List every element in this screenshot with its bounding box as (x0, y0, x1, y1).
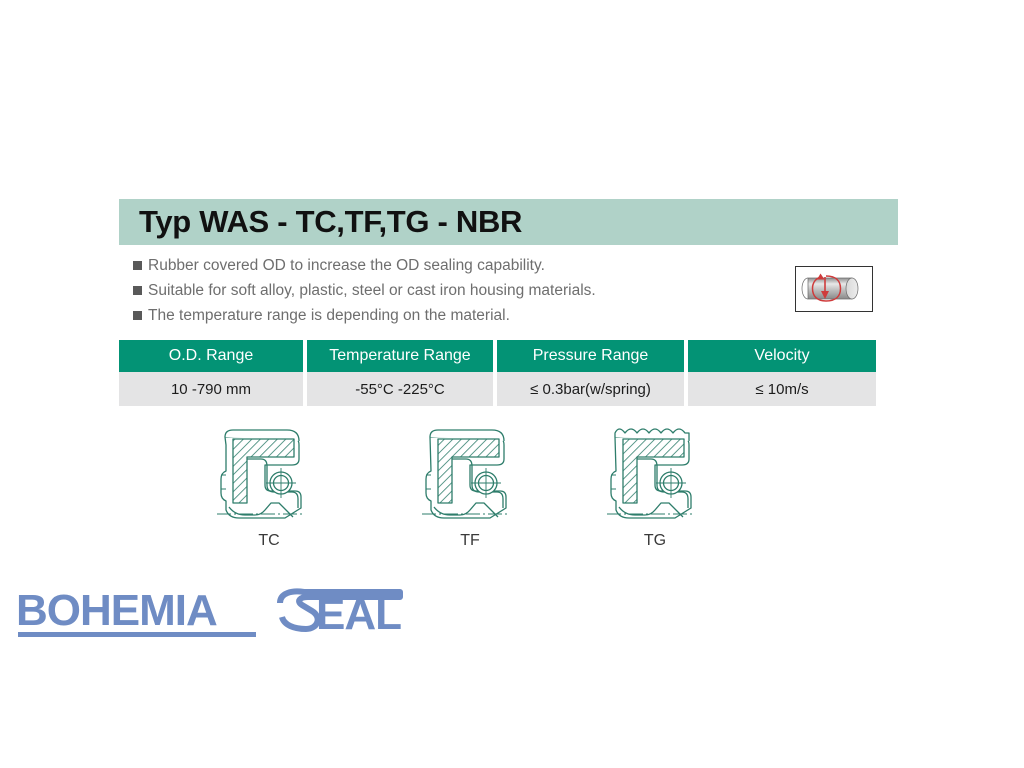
column-header: Temperature Range (307, 340, 493, 372)
logo-primary-text: BOHEMIA (16, 586, 217, 635)
feature-item: Suitable for soft alloy, plastic, steel … (133, 280, 753, 303)
page-title: Typ WAS - TC,TF,TG - NBR (119, 204, 522, 240)
specification-table: O.D. Range 10 -790 mm Temperature Range … (119, 340, 876, 406)
title-banner: Typ WAS - TC,TF,TG - NBR (119, 199, 898, 245)
seal-cross-section-tg-svg (585, 415, 725, 525)
column-header: Pressure Range (497, 340, 684, 372)
logo-secondary-text: EAL (316, 590, 401, 639)
seal-figure-tf: TF (400, 415, 540, 550)
seal-figures-row: TC (0, 415, 1024, 555)
feature-item: Rubber covered OD to increase the OD sea… (133, 255, 753, 278)
column-value: ≤ 0.3bar(w/spring) (497, 372, 684, 406)
square-bullet-icon (133, 286, 142, 295)
feature-item-label: The temperature range is depending on th… (148, 305, 510, 327)
seal-label: TG (585, 532, 725, 550)
column-header: Velocity (688, 340, 876, 372)
rotating-shaft-icon (795, 266, 873, 312)
feature-list: Rubber covered OD to increase the OD sea… (133, 255, 753, 330)
seal-label: TF (400, 532, 540, 550)
table-column-velocity: Velocity ≤ 10m/s (688, 340, 876, 406)
feature-item: The temperature range is depending on th… (133, 305, 753, 328)
table-column-pressure-range: Pressure Range ≤ 0.3bar(w/spring) (497, 340, 684, 406)
seal-cross-section-tc-svg (199, 415, 339, 525)
seal-figure-tg: TG (585, 415, 725, 550)
table-column-od-range: O.D. Range 10 -790 mm (119, 340, 303, 406)
square-bullet-icon (133, 261, 142, 270)
column-value: -55°C -225°C (307, 372, 493, 406)
rotating-shaft-svg (796, 267, 870, 309)
seal-figure-tc: TC (199, 415, 339, 550)
brand-logo: BOHEMIA EAL (16, 585, 416, 647)
table-column-temperature-range: Temperature Range -55°C -225°C (307, 340, 493, 406)
seal-label: TC (199, 532, 339, 550)
seal-cross-section-tf-svg (400, 415, 540, 525)
feature-item-label: Suitable for soft alloy, plastic, steel … (148, 280, 596, 302)
column-value: ≤ 10m/s (688, 372, 876, 406)
brand-logo-svg: BOHEMIA EAL (16, 585, 416, 647)
logo-underline (18, 632, 256, 637)
feature-item-label: Rubber covered OD to increase the OD sea… (148, 255, 545, 277)
column-value: 10 -790 mm (119, 372, 303, 406)
square-bullet-icon (133, 311, 142, 320)
column-header: O.D. Range (119, 340, 303, 372)
